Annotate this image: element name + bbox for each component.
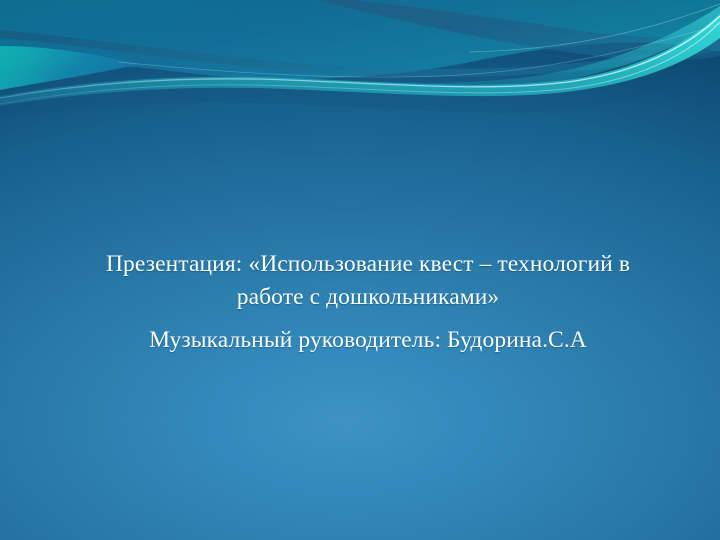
ribbon-cyan-secondary [210,6,720,90]
ribbon-dark-lower [0,30,720,77]
ribbon-dark-upper [318,0,720,61]
hairline-upper-right [470,4,720,52]
ribbon-top-sheet [0,0,720,79]
presentation-slide: Презентация: «Использование квест – техн… [0,0,720,540]
hairline-tertiary [118,24,720,77]
ribbon-fold-shadow [0,38,720,120]
slide-author: Музыкальный руководитель: Будорина.С.А [70,324,666,357]
ribbon-cyan-main [0,14,720,106]
hairline-primary [0,16,720,98]
ribbon-teal-wedge-left [0,46,140,90]
slide-text-block: Презентация: «Использование квест – техн… [70,248,666,357]
slide-title: Презентация: «Использование квест – техн… [70,248,666,314]
hairline-secondary [0,22,720,104]
